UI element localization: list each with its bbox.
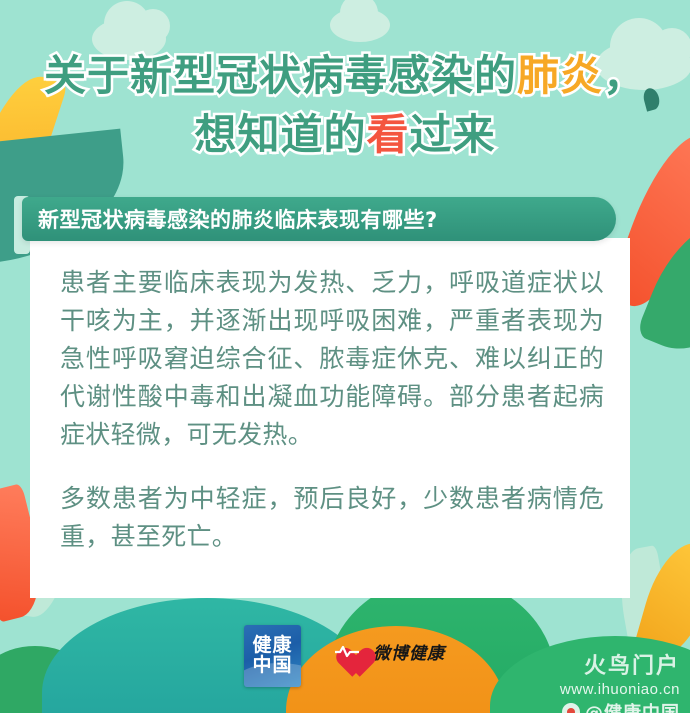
weibo-health-label: 微博健康 (373, 639, 445, 664)
title-line2-part2: 过来 (410, 110, 496, 159)
watermark-url: www.ihuoniao.cn (560, 681, 680, 698)
title-line2-highlight: 看 (366, 110, 409, 159)
question-text: 新型冠状病毒感染的肺炎临床表现有哪些? (22, 204, 438, 234)
poster-canvas: 关于新型冠状病毒感染的肺炎， 想知道的看过来 新型冠状病毒感染的肺炎临床表现有哪… (0, 0, 690, 713)
body-paragraph-1: 患者主要临床表现为发热、乏力，呼吸道症状以干咳为主，并逐渐出现呼吸困难，严重者表… (60, 264, 604, 454)
title-line2-part1: 想知道的 (194, 110, 366, 159)
watermark: 火鸟门户 www.ihuoniao.cn @健康中国 (560, 648, 680, 713)
heart-pulse-icon (330, 636, 364, 667)
weibo-icon (562, 703, 580, 713)
title-line1-highlight: 肺炎 (517, 51, 603, 100)
pulse-line-icon (335, 645, 359, 658)
title-line1-part2: ， (603, 51, 646, 100)
leaf-green-top-right (635, 195, 690, 370)
health-china-logo-line2: 中国 (252, 656, 292, 676)
title-line1-part1: 关于新型冠状病毒感染的 (44, 51, 517, 100)
body-paragraph-2: 多数患者为中轻症，预后良好，少数患者病情危重，甚至死亡。 (60, 480, 604, 556)
title-line-1: 关于新型冠状病毒感染的肺炎， (0, 50, 690, 101)
watermark-weibo-handle: @健康中国 (585, 699, 680, 713)
watermark-site-name: 火鸟门户 (560, 648, 680, 680)
health-china-logo: 健康 中国 (244, 625, 301, 687)
content-card: 患者主要临床表现为发热、乏力，呼吸道症状以干咳为主，并逐渐出现呼吸困难，严重者表… (30, 238, 630, 598)
cloud-icon-center (330, 8, 390, 42)
title-line-2: 想知道的看过来 (0, 109, 690, 160)
question-header-bar: 新型冠状病毒感染的肺炎临床表现有哪些? (22, 197, 616, 241)
weibo-health-logo: 微博健康 (330, 636, 445, 667)
poster-title: 关于新型冠状病毒感染的肺炎， 想知道的看过来 (0, 50, 690, 160)
footer: 健康 中国 微博健康 火鸟门户 www.ihuoniao.cn @健康中国 (0, 620, 690, 713)
